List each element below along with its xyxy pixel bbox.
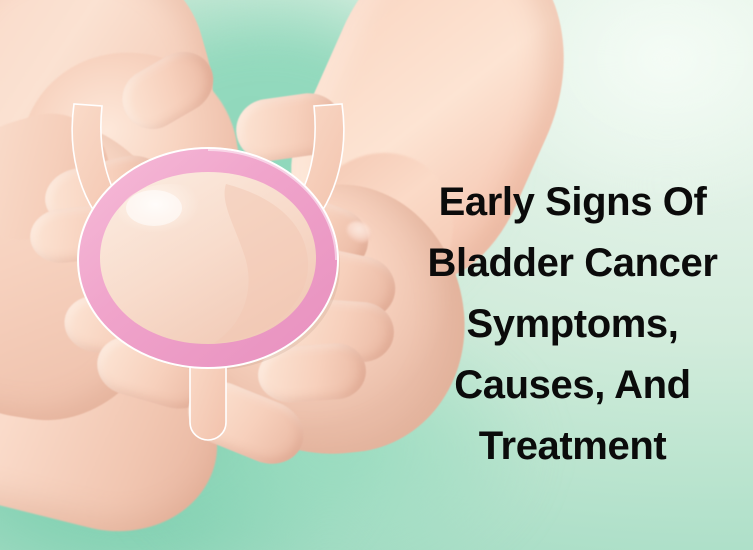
poster-canvas: Early Signs Of Bladder Cancer Symptoms, … bbox=[0, 0, 753, 550]
title-line-1: Early Signs Of bbox=[392, 172, 753, 233]
page-title: Early Signs Of Bladder Cancer Symptoms, … bbox=[392, 172, 753, 477]
bladder-illustration bbox=[58, 92, 358, 442]
title-line-4: Causes, And bbox=[392, 355, 753, 416]
title-line-3: Symptoms, bbox=[392, 294, 753, 355]
title-line-5: Treatment bbox=[392, 416, 753, 477]
bladder-highlight-core bbox=[126, 190, 182, 226]
title-line-2: Bladder Cancer bbox=[392, 233, 753, 294]
